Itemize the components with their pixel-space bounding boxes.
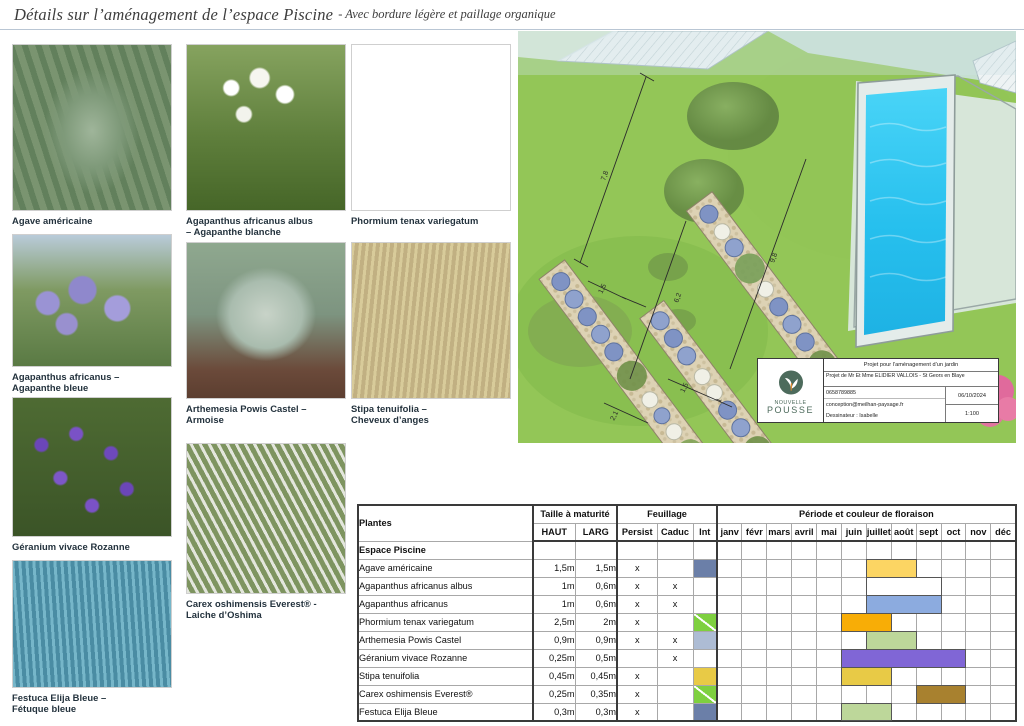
plant-photo-agapanthus-albus	[186, 44, 346, 211]
bloom-bar-segment	[916, 577, 942, 596]
cell-month	[866, 595, 891, 613]
cell-caduc	[657, 685, 693, 703]
bloom-bar-segment	[941, 685, 967, 704]
table-row: Festuca Elija Bleue0,3m0,3mx	[358, 703, 1016, 721]
cell-caduc: x	[657, 595, 693, 613]
bloom-bar-segment	[866, 631, 892, 650]
cell-month	[841, 667, 866, 685]
col-header-taille: Taille à maturité	[533, 505, 617, 523]
cell-month	[817, 631, 842, 649]
cell-larg: 0,45m	[575, 667, 617, 685]
interest-swatch	[694, 614, 717, 631]
cell-month	[767, 631, 792, 649]
plant-card-agapanthus-albus: Agapanthus africanus albus– Agapanthe bl…	[186, 44, 346, 238]
cell-month	[966, 631, 991, 649]
plant-photo-phormium	[351, 44, 511, 211]
cell-month	[941, 577, 966, 595]
plan-titleblock: NOUVELLE POUSSE Projet pour l’aménagemen…	[757, 358, 999, 423]
cell-month	[742, 559, 767, 577]
cell-month	[966, 559, 991, 577]
cell-month	[841, 577, 866, 595]
cell-month	[916, 613, 941, 631]
titleblock-client: Projet de Mr Et Mme ELIDIER VALLOIS - St…	[824, 372, 998, 387]
plant-card-stipa: Stipa tenuifolia –Cheveux d’anges	[351, 242, 511, 426]
table-body: Espace PiscineAgave américaine1,5m1,5mxA…	[358, 541, 1016, 721]
interest-swatch	[694, 704, 717, 721]
cell-persist: x	[617, 613, 657, 631]
interest-swatch	[694, 632, 717, 649]
schedule-table: Plantes Taille à maturité Feuillage Péri…	[357, 504, 1017, 722]
plant-caption-artemisia: Arthemesia Powis Castel –Armoise	[186, 403, 346, 426]
cell-int	[693, 595, 717, 613]
col-header-month: janv	[717, 523, 742, 541]
cell-month	[717, 631, 742, 649]
interest-swatch	[694, 686, 717, 703]
bloom-bar-segment	[841, 613, 867, 632]
bloom-bar-segment	[891, 595, 917, 614]
cell-month	[941, 613, 966, 631]
table-row: Stipa tenuifolia0,45m0,45mx	[358, 667, 1016, 685]
cell-haut: 0,45m	[533, 667, 575, 685]
col-header-plantes: Plantes	[358, 505, 533, 541]
table-row: Phormium tenax variegatum2,5m2mx	[358, 613, 1016, 631]
cell-month	[991, 649, 1016, 667]
cell-month	[866, 577, 891, 595]
cell-month	[891, 613, 916, 631]
cell-month	[817, 577, 842, 595]
cell-month	[767, 559, 792, 577]
cell-month	[866, 703, 891, 721]
table-row: Agapanthus africanus1m0,6mxx	[358, 595, 1016, 613]
col-header-floraison: Période et couleur de floraison	[717, 505, 1016, 523]
cell-month	[817, 595, 842, 613]
bloom-bar-segment	[891, 631, 917, 650]
plant-caption-phormium: Phormium tenax variegatum	[351, 215, 511, 226]
cell-int	[693, 685, 717, 703]
cell-month	[941, 649, 966, 667]
cell-int	[693, 703, 717, 721]
cell-month	[991, 559, 1016, 577]
cell-persist: x	[617, 595, 657, 613]
cell-month	[991, 667, 1016, 685]
col-header-month: déc	[991, 523, 1016, 541]
company-logo: NOUVELLE POUSSE	[758, 359, 824, 422]
col-header-haut: HAUT	[533, 523, 575, 541]
cell-haut: 1,5m	[533, 559, 575, 577]
cell-month	[891, 595, 916, 613]
cell-month	[891, 631, 916, 649]
cell-month	[941, 703, 966, 721]
cell-plant-name: Géranium vivace Rozanne	[358, 649, 533, 667]
cell-int	[693, 613, 717, 631]
cell-month	[966, 613, 991, 631]
bloom-bar-segment	[866, 595, 892, 614]
col-header-month: mai	[817, 523, 842, 541]
cell-month	[792, 667, 817, 685]
cell-haut: 0,25m	[533, 649, 575, 667]
cell-month	[866, 631, 891, 649]
cell-month	[891, 667, 916, 685]
cell-int	[693, 559, 717, 577]
cell-plant-name: Agapanthus africanus albus	[358, 577, 533, 595]
cell-month	[742, 577, 767, 595]
plant-caption-carex: Carex oshimensis Everest® -Laiche d’Oshi…	[186, 598, 346, 621]
cell-month	[866, 685, 891, 703]
col-header-month: févr	[742, 523, 767, 541]
cell-month	[717, 577, 742, 595]
cell-month	[742, 667, 767, 685]
plant-card-carex: Carex oshimensis Everest® -Laiche d’Oshi…	[186, 443, 346, 621]
cell-larg: 0,6m	[575, 595, 617, 613]
cell-month	[841, 595, 866, 613]
cell-month	[792, 631, 817, 649]
cell-month	[991, 577, 1016, 595]
cell-month	[866, 667, 891, 685]
cell-month	[841, 613, 866, 631]
cell-month	[991, 703, 1016, 721]
col-header-feuillage: Feuillage	[617, 505, 717, 523]
cell-larg: 0,5m	[575, 649, 617, 667]
cell-month	[866, 649, 891, 667]
plant-card-geranium: Géranium vivace Rozanne	[12, 397, 172, 552]
cell-plant-name: Arthemesia Powis Castel	[358, 631, 533, 649]
table-group-row: Espace Piscine	[358, 541, 1016, 559]
page-title: Détails sur l’aménagement de l’espace Pi…	[14, 5, 333, 25]
plant-card-phormium: Phormium tenax variegatum	[351, 44, 511, 226]
cell-month	[717, 685, 742, 703]
logo-text-line2: POUSSE	[767, 406, 814, 415]
cell-month	[817, 685, 842, 703]
cell-plant-name: Agapanthus africanus	[358, 595, 533, 613]
cell-haut: 1m	[533, 577, 575, 595]
plant-caption-geranium: Géranium vivace Rozanne	[12, 541, 172, 552]
bloom-bar-segment	[866, 667, 892, 686]
col-header-int: Int	[693, 523, 717, 541]
titleblock-phone: 0658789885	[824, 387, 945, 399]
titleblock-date: 06/10/2024	[946, 387, 998, 405]
cell-month	[717, 703, 742, 721]
cell-caduc: x	[657, 649, 693, 667]
cell-month	[941, 559, 966, 577]
bloom-bar-segment	[866, 613, 892, 632]
cell-plant-name: Festuca Elija Bleue	[358, 703, 533, 721]
titleblock-email: conception@meilhan-paysage.fr	[824, 399, 945, 410]
cell-haut: 1m	[533, 595, 575, 613]
cell-persist	[617, 649, 657, 667]
cell-month	[742, 595, 767, 613]
cell-persist: x	[617, 703, 657, 721]
cell-month	[792, 577, 817, 595]
plant-photo-geranium	[12, 397, 172, 537]
table-row: Agapanthus africanus albus1m0,6mxx	[358, 577, 1016, 595]
cell-month	[966, 685, 991, 703]
col-header-month: juin	[841, 523, 866, 541]
cell-month	[916, 685, 941, 703]
cell-month	[916, 595, 941, 613]
cell-haut: 0,9m	[533, 631, 575, 649]
bloom-bar-segment	[866, 649, 892, 668]
cell-month	[891, 685, 916, 703]
titleblock-scale: 1:100	[946, 405, 998, 422]
cell-month	[817, 559, 842, 577]
bloom-bar-segment	[841, 667, 867, 686]
plant-caption-agapanthus-blue: Agapanthus africanus –Agapanthe bleue	[12, 371, 172, 394]
bloom-bar-segment	[941, 649, 967, 668]
cell-larg: 0,9m	[575, 631, 617, 649]
cell-month	[866, 613, 891, 631]
cell-month	[717, 595, 742, 613]
cell-month	[891, 703, 916, 721]
cell-caduc	[657, 613, 693, 631]
col-header-month: sept	[916, 523, 941, 541]
plant-card-festuca: Festuca Elija Bleue –Fétuque bleue	[12, 560, 172, 715]
plant-card-artemisia: Arthemesia Powis Castel –Armoise	[186, 242, 346, 426]
cell-month	[966, 595, 991, 613]
cell-month	[767, 703, 792, 721]
cell-month	[916, 703, 941, 721]
cell-int	[693, 667, 717, 685]
cell-int	[693, 631, 717, 649]
plant-caption-stipa: Stipa tenuifolia –Cheveux d’anges	[351, 403, 511, 426]
cell-month	[841, 703, 866, 721]
cell-month	[916, 667, 941, 685]
cell-month	[916, 631, 941, 649]
cell-month	[841, 649, 866, 667]
cell-plant-name: Carex oshimensis Everest®	[358, 685, 533, 703]
interest-swatch	[694, 560, 717, 577]
bloom-bar-segment	[891, 577, 917, 596]
cell-caduc	[657, 703, 693, 721]
bloom-bar-segment	[866, 577, 892, 596]
plant-photo-carex	[186, 443, 346, 594]
cell-month	[742, 703, 767, 721]
cell-month	[817, 667, 842, 685]
cell-month	[991, 595, 1016, 613]
cell-haut: 0,3m	[533, 703, 575, 721]
col-header-persist: Persist	[617, 523, 657, 541]
cell-month	[767, 649, 792, 667]
col-header-month: avril	[792, 523, 817, 541]
cell-month	[866, 559, 891, 577]
cell-month	[767, 595, 792, 613]
cell-larg: 0,3m	[575, 703, 617, 721]
plant-caption-festuca: Festuca Elija Bleue –Fétuque bleue	[12, 692, 172, 715]
cell-month	[817, 613, 842, 631]
cell-month	[767, 685, 792, 703]
cell-int	[693, 577, 717, 595]
cell-month	[941, 685, 966, 703]
cell-month	[792, 559, 817, 577]
cell-persist: x	[617, 667, 657, 685]
bloom-bar-segment	[841, 649, 867, 668]
cell-month	[792, 685, 817, 703]
cell-month	[742, 631, 767, 649]
plant-schedule-table: Plantes Taille à maturité Feuillage Péri…	[357, 504, 1015, 722]
cell-month	[941, 631, 966, 649]
plant-caption-agapanthus-albus: Agapanthus africanus albus– Agapanthe bl…	[186, 215, 346, 238]
cell-month	[966, 649, 991, 667]
cell-month	[742, 613, 767, 631]
plant-photo-stipa	[351, 242, 511, 399]
page-subtitle: - Avec bordure légère et paillage organi…	[338, 7, 555, 22]
cell-month	[916, 577, 941, 595]
cell-plant-name: Phormium tenax variegatum	[358, 613, 533, 631]
cell-haut: 2,5m	[533, 613, 575, 631]
bloom-bar-segment	[841, 703, 867, 722]
group-label: Espace Piscine	[358, 541, 533, 559]
col-header-larg: LARG	[575, 523, 617, 541]
cell-month	[966, 703, 991, 721]
cell-int	[693, 649, 717, 667]
cell-haut: 0,25m	[533, 685, 575, 703]
cell-month	[916, 559, 941, 577]
cell-month	[742, 649, 767, 667]
cell-persist: x	[617, 631, 657, 649]
cell-caduc	[657, 559, 693, 577]
cell-caduc	[657, 667, 693, 685]
cell-larg: 2m	[575, 613, 617, 631]
table-row: Carex oshimensis Everest®0,25m0,35mx	[358, 685, 1016, 703]
bloom-bar-segment	[916, 595, 942, 614]
col-header-month: oct	[941, 523, 966, 541]
titleblock-project-title: Projet pour l’aménagement d’un jardin	[824, 359, 998, 372]
cell-month	[817, 703, 842, 721]
cell-month	[941, 667, 966, 685]
cell-month	[991, 631, 1016, 649]
col-header-month: nov	[966, 523, 991, 541]
cell-month	[792, 703, 817, 721]
leaf-logo-icon	[776, 369, 806, 399]
cell-caduc: x	[657, 577, 693, 595]
cell-month	[916, 649, 941, 667]
cell-month	[767, 613, 792, 631]
plant-photo-festuca	[12, 560, 172, 688]
cell-larg: 0,6m	[575, 577, 617, 595]
table-row: Agave américaine1,5m1,5mx	[358, 559, 1016, 577]
cell-month	[767, 667, 792, 685]
cell-month	[966, 577, 991, 595]
plant-caption-agave: Agave américaine	[12, 215, 172, 226]
col-header-month: août	[891, 523, 916, 541]
cell-month	[717, 667, 742, 685]
col-header-month: juillet	[866, 523, 891, 541]
interest-swatch	[694, 668, 717, 685]
cell-month	[941, 595, 966, 613]
bloom-bar-segment	[891, 559, 917, 578]
plant-photo-agave	[12, 44, 172, 211]
cell-caduc: x	[657, 631, 693, 649]
cell-month	[742, 685, 767, 703]
cell-plant-name: Stipa tenuifolia	[358, 667, 533, 685]
cell-month	[841, 685, 866, 703]
bloom-bar-segment	[916, 649, 942, 668]
page-header: Détails sur l’aménagement de l’espace Pi…	[0, 0, 1024, 30]
titleblock-drafter: Dessinateur : Isabelle	[824, 411, 945, 422]
bloom-bar-segment	[866, 703, 892, 722]
cell-larg: 0,35m	[575, 685, 617, 703]
cell-plant-name: Agave américaine	[358, 559, 533, 577]
cell-month	[717, 649, 742, 667]
cell-persist: x	[617, 577, 657, 595]
table-header-row-1: Plantes Taille à maturité Feuillage Péri…	[358, 505, 1016, 523]
cell-month	[767, 577, 792, 595]
cell-month	[717, 613, 742, 631]
cell-month	[891, 577, 916, 595]
cell-month	[891, 559, 916, 577]
cell-month	[792, 649, 817, 667]
bloom-bar-segment	[891, 649, 917, 668]
cell-month	[991, 613, 1016, 631]
cell-month	[891, 649, 916, 667]
cell-month	[717, 559, 742, 577]
plant-card-agapanthus-blue: Agapanthus africanus –Agapanthe bleue	[12, 234, 172, 394]
tree-canopy	[687, 82, 779, 150]
cell-month	[841, 559, 866, 577]
document-page: Détails sur l’aménagement de l’espace Pi…	[0, 0, 1024, 726]
cell-month	[841, 631, 866, 649]
cell-persist: x	[617, 685, 657, 703]
col-header-month: mars	[767, 523, 792, 541]
cell-larg: 1,5m	[575, 559, 617, 577]
cell-month	[991, 685, 1016, 703]
bloom-bar-segment	[916, 685, 942, 704]
table-row: Géranium vivace Rozanne0,25m0,5mx	[358, 649, 1016, 667]
cell-month	[966, 667, 991, 685]
cell-month	[792, 613, 817, 631]
col-header-caduc: Caduc	[657, 523, 693, 541]
plant-card-agave: Agave américaine	[12, 44, 172, 226]
site-plan: 7,8 1,5 6,2 1,5 1 2,1 9,8	[518, 31, 1016, 443]
plant-photo-agapanthus-blue	[12, 234, 172, 367]
table-row: Arthemesia Powis Castel0,9m0,9mxx	[358, 631, 1016, 649]
cell-month	[792, 595, 817, 613]
bloom-bar-segment	[866, 559, 892, 578]
cell-month	[817, 649, 842, 667]
plant-photo-artemisia	[186, 242, 346, 399]
cell-persist: x	[617, 559, 657, 577]
